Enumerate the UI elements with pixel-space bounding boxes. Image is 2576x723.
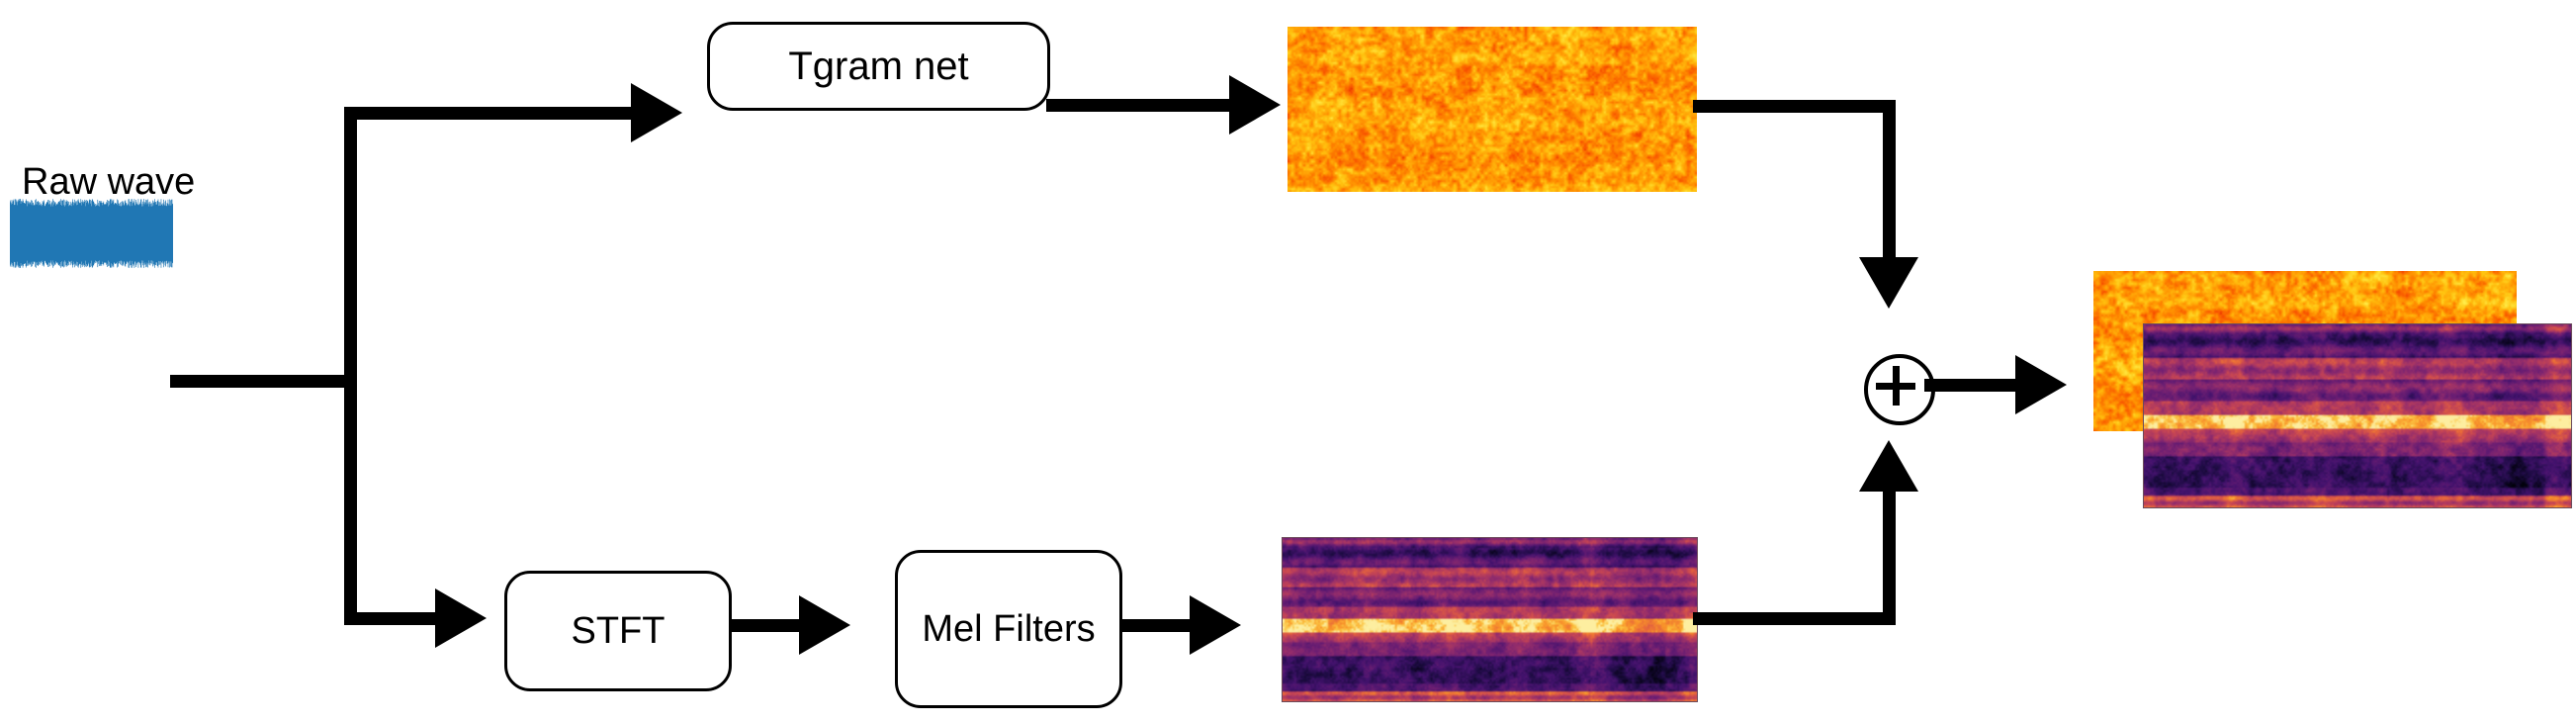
arrow-into-mel <box>1190 595 1241 655</box>
edge-tgram-to-merge <box>1693 100 1896 113</box>
mel-spectrogram <box>1283 538 1697 701</box>
edge-merge-top-vertical <box>1883 100 1896 262</box>
arrow-into-stft <box>435 588 487 648</box>
edge-tgramnet-to-tgram <box>1046 99 1234 112</box>
edge-wave-to-split <box>170 375 350 388</box>
arrow-sum-from-bottom <box>1859 440 1918 492</box>
edge-split-to-stft <box>344 612 443 625</box>
sum-plus-vertical <box>1893 366 1900 406</box>
block-tgramnet-label: Tgram net <box>788 45 968 89</box>
block-stft[interactable]: STFT <box>504 571 732 691</box>
diagram-canvas: Raw wave Tgram net STFT Mel Filters <box>0 0 2576 723</box>
tgram-spectrogram <box>1288 27 1697 192</box>
edge-stft-to-melfilters <box>729 619 806 632</box>
arrow-into-output <box>2015 355 2067 414</box>
block-mel-filters[interactable]: Mel Filters <box>895 550 1122 708</box>
block-stft-label: STFT <box>572 610 666 653</box>
edge-sum-to-output <box>1924 379 2021 392</box>
arrow-into-tgramnet <box>631 83 682 142</box>
edge-split-trunk <box>344 107 357 625</box>
arrow-into-melfilters <box>799 595 850 655</box>
edge-mel-to-merge <box>1693 612 1896 625</box>
arrow-sum-from-top <box>1859 257 1918 309</box>
raw-waveform <box>10 198 173 269</box>
fused-mel-spectrogram <box>2144 324 2571 507</box>
edge-merge-bottom-vertical <box>1883 492 1896 625</box>
edge-split-to-tgramnet <box>344 107 636 120</box>
edge-melfilters-to-mel <box>1119 619 1197 632</box>
block-mel-filters-label: Mel Filters <box>922 608 1095 651</box>
block-tgramnet[interactable]: Tgram net <box>707 22 1050 111</box>
arrow-into-tgram <box>1229 75 1281 135</box>
